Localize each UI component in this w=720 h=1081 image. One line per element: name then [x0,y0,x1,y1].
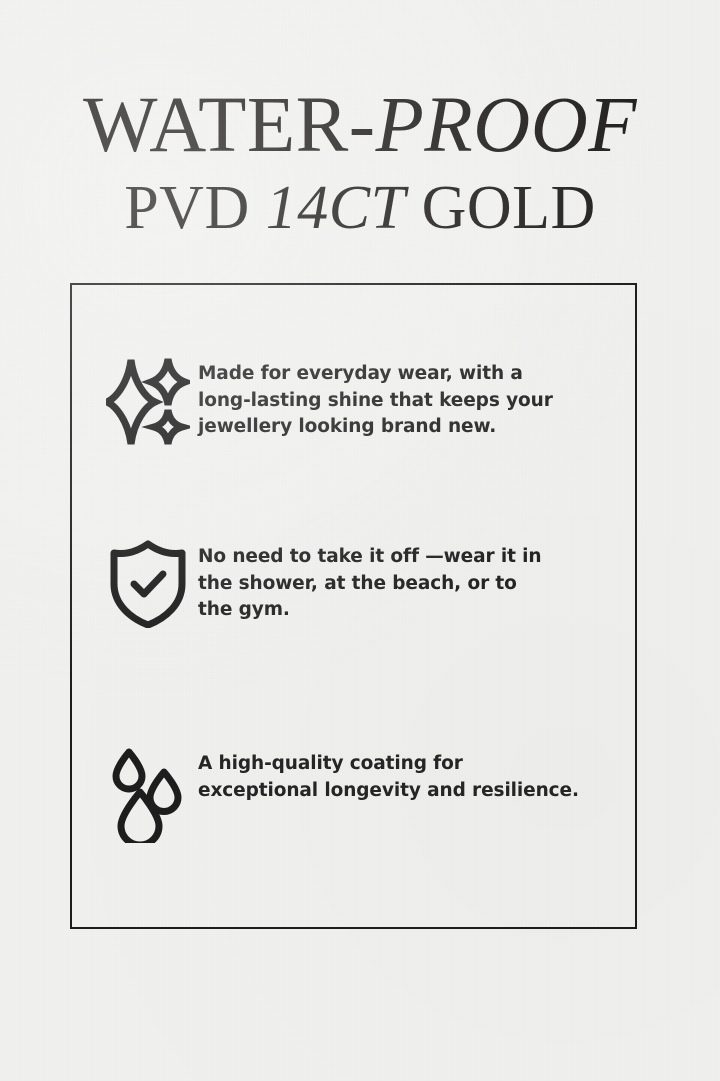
feature-line: No need to take it off —wear it in [198,544,542,571]
feature-line: A high-quality coating for [198,751,579,778]
feature-line: jewellery looking brand new. [198,414,553,441]
feature-line: the shower, at the beach, or to [198,571,542,598]
headline-water: WATER- [83,82,376,169]
product-feature-poster: WATER-PROOF PVD 14CT GOLD Mad [0,0,720,1081]
feature-text-waterproof-wear: No need to take it off —wear it in the s… [198,540,542,624]
headline-gold: GOLD [406,174,596,242]
sparkle-icon [100,357,196,449]
feature-line: the gym. [198,597,542,624]
feature-item-coating-quality: A high-quality coating for exceptional l… [72,747,635,843]
feature-line: exceptional longevity and resilience. [198,778,579,805]
page-title: WATER-PROOF PVD 14CT GOLD [0,86,720,239]
feature-line: long-lasting shine that keeps your [198,388,553,415]
headline-14ct: 14CT [266,174,406,242]
shield-check-icon [100,540,196,628]
headline-line-2: PVD 14CT GOLD [0,177,720,239]
feature-line: Made for everyday wear, with a [198,361,553,388]
feature-text-everyday-wear: Made for everyday wear, with a long-last… [198,357,553,441]
feature-item-everyday-wear: Made for everyday wear, with a long-last… [72,357,635,449]
feature-list: Made for everyday wear, with a long-last… [72,285,635,927]
headline-proof: PROOF [376,82,637,169]
feature-box: Made for everyday wear, with a long-last… [70,283,637,929]
headline-line-1: WATER-PROOF [0,86,720,165]
water-droplets-icon [100,747,196,843]
feature-item-waterproof-wear: No need to take it off —wear it in the s… [72,540,635,628]
headline-pvd: PVD [124,174,266,242]
feature-text-coating-quality: A high-quality coating for exceptional l… [198,747,579,804]
